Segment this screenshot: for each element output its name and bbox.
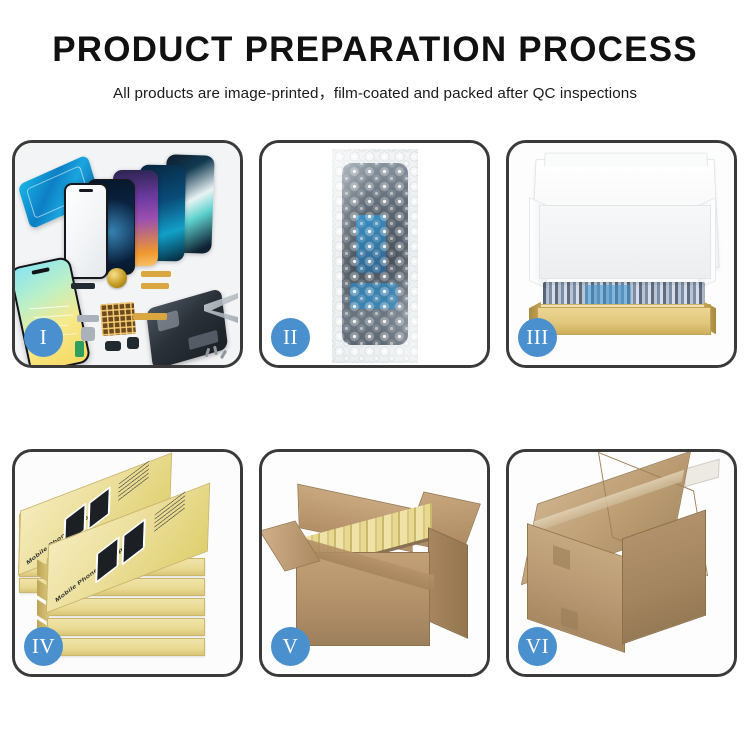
- page-title: PRODUCT PREPARATION PROCESS: [0, 32, 750, 69]
- step-panel-5: V: [259, 449, 490, 677]
- box-stack-f5: [47, 638, 205, 656]
- earpiece-mesh-part: [71, 283, 95, 289]
- header: PRODUCT PREPARATION PROCESS All products…: [0, 32, 750, 103]
- box-screen-image-front-2: [121, 518, 145, 566]
- metal-bracket-part: [77, 315, 99, 322]
- step-badge-3: III: [518, 318, 557, 357]
- step-badge-5: V: [271, 627, 310, 666]
- box-spec-lines-back: [118, 460, 149, 501]
- camera-module-part: [127, 337, 139, 349]
- step-panel-1: I: [12, 140, 243, 368]
- step-badge-2: II: [271, 318, 310, 357]
- step-panel-3: III: [506, 140, 737, 368]
- tape-end-flag: [684, 459, 719, 488]
- step-badge-6: VI: [518, 627, 557, 666]
- steps-grid: I II: [12, 140, 738, 685]
- speaker-part: [105, 341, 121, 351]
- sim-tray-part: [81, 327, 95, 341]
- flex-cable-part-3: [133, 313, 167, 320]
- step-badge-1: I: [24, 318, 63, 357]
- step-panel-4: Mobile Phone Spare Parts Mobile Phone Sp…: [12, 449, 243, 677]
- page-subtitle: All products are image-printed，film-coat…: [0, 81, 750, 103]
- flex-cable-part-2: [141, 283, 169, 289]
- step-panel-6: VI: [506, 449, 737, 677]
- battery-connector-part: [75, 341, 84, 357]
- box-screen-image-front-1: [95, 536, 119, 584]
- mailer-box-front-panel: [537, 307, 711, 335]
- flex-cable-part-1: [141, 271, 171, 277]
- mailer-box-interior: [539, 205, 711, 279]
- vibration-motor-part: [107, 268, 127, 288]
- step-panel-2: II: [259, 140, 490, 368]
- step-badge-4: IV: [24, 627, 63, 666]
- bubble-wrap-gloss: [332, 149, 418, 363]
- chip-array-part: [100, 302, 136, 336]
- product-preparation-infographic: PRODUCT PREPARATION PROCESS All products…: [0, 0, 750, 750]
- carton-right-face: [428, 527, 468, 639]
- screws-group: [204, 346, 230, 362]
- box-stack-f4: [47, 618, 205, 636]
